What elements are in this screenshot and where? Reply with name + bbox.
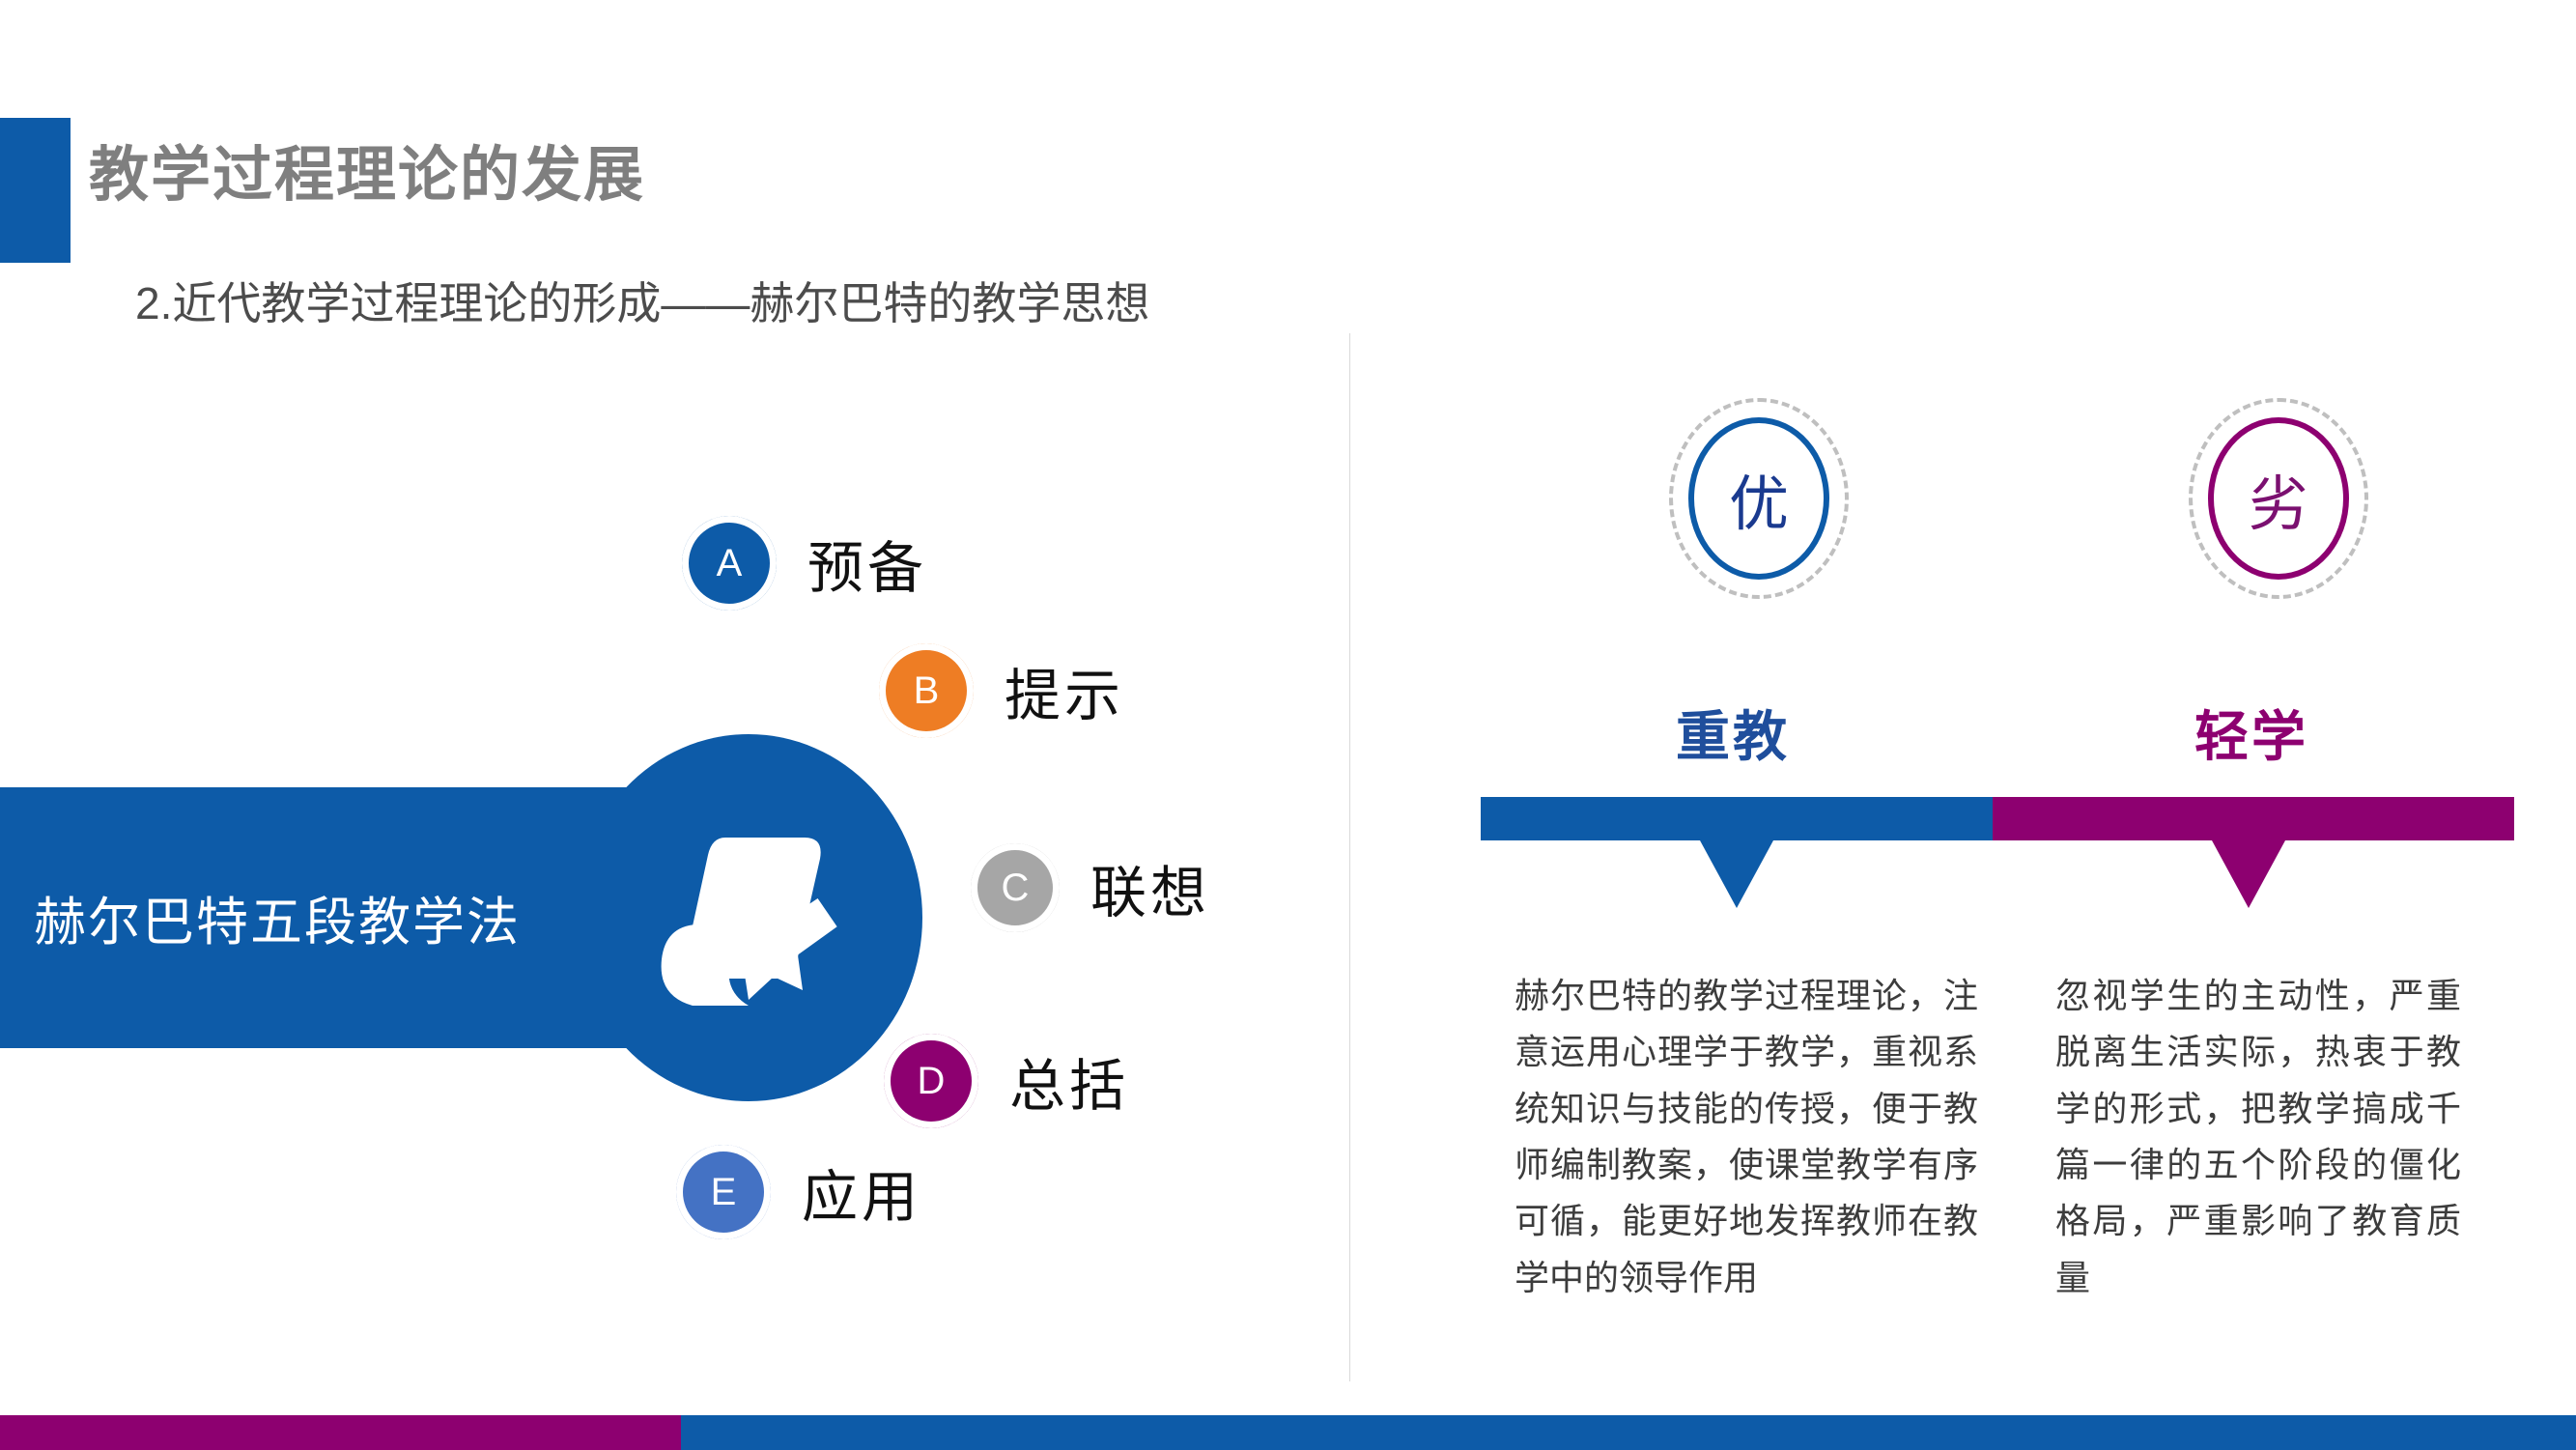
step-badge-d: D — [884, 1034, 978, 1128]
header-accent-block — [0, 118, 71, 263]
step-label-c: 联想 — [1090, 847, 1210, 928]
step-label-d: 总括 — [1009, 1040, 1129, 1122]
step-letter-e: E — [676, 1145, 771, 1239]
badge-circle-lie: 劣 — [2208, 417, 2349, 580]
step-label-e: 应用 — [802, 1151, 921, 1233]
step-badge-b: B — [879, 643, 974, 738]
book-graduation-icon — [633, 816, 855, 1038]
herbart-method-label: 赫尔巴特五段教学法 — [34, 879, 633, 955]
step-letter-d: D — [884, 1034, 978, 1128]
step-badge-c: C — [971, 843, 1060, 932]
step-badge-a: A — [682, 516, 777, 611]
bar-zhongjiao — [1481, 797, 1993, 840]
step-letter-c: C — [971, 843, 1060, 932]
step-label-b: 提示 — [1005, 650, 1124, 731]
step-label-a: 预备 — [807, 523, 927, 604]
body-text-zhongjiao: 赫尔巴特的教学过程理论，注意运用心理学于教学，重视系统知识与技能的传授，便于教师… — [1514, 968, 1978, 1306]
vertical-divider — [1349, 333, 1350, 1381]
step-letter-a: A — [682, 516, 777, 611]
heading-qingxue: 轻学 — [2194, 694, 2308, 772]
badge-text-lie: 劣 — [2249, 455, 2308, 542]
step-item-a[interactable]: A 预备 — [682, 516, 927, 611]
arrow-zhongjiao — [1700, 840, 1773, 908]
badge-text-you: 优 — [1729, 455, 1789, 542]
footer-bar-purple — [0, 1415, 681, 1450]
step-item-b[interactable]: B 提示 — [879, 643, 1124, 738]
footer-bar-blue — [681, 1415, 2576, 1450]
arrow-qingxue — [2212, 840, 2285, 908]
heading-zhongjiao: 重教 — [1676, 694, 1790, 772]
step-item-c[interactable]: C 联想 — [971, 843, 1210, 932]
step-letter-b: B — [879, 643, 974, 738]
bar-qingxue — [1993, 797, 2514, 840]
step-item-e[interactable]: E 应用 — [676, 1145, 921, 1239]
step-item-d[interactable]: D 总括 — [884, 1034, 1129, 1128]
badge-circle-you: 优 — [1688, 417, 1829, 580]
herbart-method-shape: 赫尔巴特五段教学法 — [0, 720, 927, 1125]
page-subtitle: 2.近代教学过程理论的形成——赫尔巴特的教学思想 — [135, 269, 1149, 332]
body-text-qingxue: 忽视学生的主动性，严重脱离生活实际，热衷于教学的形式，把教学搞成千篇一律的五个阶… — [2055, 968, 2461, 1306]
step-badge-e: E — [676, 1145, 771, 1239]
page-title: 教学过程理论的发展 — [89, 143, 645, 209]
